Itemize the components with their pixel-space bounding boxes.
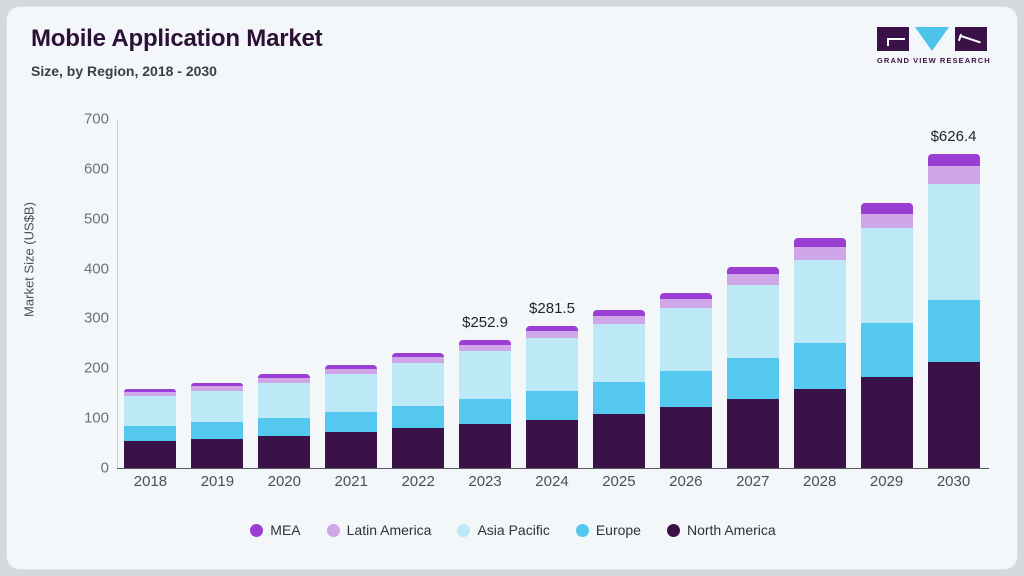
- legend-label: Latin America: [347, 522, 432, 538]
- x-axis-tick: 2022: [385, 473, 452, 490]
- y-axis-tick: 0: [37, 460, 109, 477]
- bar-segment[interactable]: [526, 338, 578, 391]
- bar-total-label: $626.4: [931, 128, 977, 145]
- bar-segment[interactable]: [124, 441, 176, 468]
- bar-column[interactable]: [191, 383, 243, 468]
- y-axis-tick: 600: [37, 160, 109, 177]
- bar-segment[interactable]: [794, 260, 846, 343]
- x-axis-tick: 2023: [452, 473, 519, 490]
- bar-segment[interactable]: [794, 343, 846, 389]
- bar-segment[interactable]: [459, 351, 511, 399]
- bar-segment[interactable]: [861, 323, 913, 376]
- legend-item[interactable]: Latin America: [327, 522, 432, 538]
- x-axis-tick: 2026: [652, 473, 719, 490]
- bar-segment[interactable]: [392, 428, 444, 468]
- y-axis-tick: 100: [37, 410, 109, 427]
- bar-segment[interactable]: [325, 432, 377, 468]
- bar-segment[interactable]: [593, 324, 645, 381]
- bar-segment[interactable]: [660, 308, 712, 371]
- bar-segment[interactable]: [727, 267, 779, 274]
- bar-segment[interactable]: [928, 184, 980, 300]
- bar-segment[interactable]: [727, 285, 779, 359]
- y-axis-tick: 300: [37, 310, 109, 327]
- chart-card: Mobile Application Market Size, by Regio…: [6, 6, 1018, 570]
- bar-segment[interactable]: [593, 316, 645, 324]
- y-axis-tick: 700: [37, 111, 109, 128]
- stacked-bar-chart: Market Size (US$B) 010020030040050060070…: [7, 7, 1018, 570]
- bar-segment[interactable]: [794, 247, 846, 259]
- bar-total-label: $252.9: [462, 314, 508, 331]
- legend-item[interactable]: North America: [667, 522, 776, 538]
- bar-column[interactable]: [392, 353, 444, 468]
- bar-column[interactable]: $252.9: [459, 340, 511, 468]
- screenshot-root: Mobile Application Market Size, by Regio…: [0, 0, 1024, 576]
- bar-segment[interactable]: [593, 414, 645, 468]
- bar-segment[interactable]: [258, 418, 310, 436]
- x-axis-tick: 2019: [184, 473, 251, 490]
- bar-column[interactable]: [325, 365, 377, 468]
- bar-segment[interactable]: [660, 371, 712, 407]
- bar-segment[interactable]: [258, 383, 310, 418]
- bar-column[interactable]: [258, 374, 310, 468]
- x-axis-line: [117, 468, 989, 469]
- bar-segment[interactable]: [660, 299, 712, 308]
- bar-segment[interactable]: [258, 436, 310, 468]
- bar-segment[interactable]: [325, 374, 377, 411]
- bar-column[interactable]: [861, 203, 913, 468]
- bar-segment[interactable]: [392, 406, 444, 428]
- legend-color-swatch: [576, 524, 589, 537]
- bar-column[interactable]: [794, 238, 846, 468]
- bar-segment[interactable]: [861, 228, 913, 323]
- x-axis-tick: 2024: [519, 473, 586, 490]
- x-axis-tick: 2027: [719, 473, 786, 490]
- x-axis-tick: 2021: [318, 473, 385, 490]
- bar-segment[interactable]: [928, 154, 980, 166]
- bar-segment[interactable]: [861, 203, 913, 213]
- bar-column[interactable]: [727, 267, 779, 468]
- bar-segment[interactable]: [526, 331, 578, 338]
- bar-segment[interactable]: [459, 399, 511, 423]
- legend-color-swatch: [250, 524, 263, 537]
- bar-segment[interactable]: [459, 424, 511, 468]
- bar-segment[interactable]: [392, 363, 444, 405]
- legend-item[interactable]: Asia Pacific: [457, 522, 549, 538]
- y-axis-ticks: 0100200300400500600700: [27, 119, 109, 468]
- legend-label: Asia Pacific: [477, 522, 549, 538]
- bar-segment[interactable]: [727, 274, 779, 284]
- bar-segment[interactable]: [191, 391, 243, 422]
- y-axis-tick: 400: [37, 260, 109, 277]
- x-axis-tick: 2028: [786, 473, 853, 490]
- bar-segment[interactable]: [191, 422, 243, 438]
- y-axis-tick: 500: [37, 210, 109, 227]
- legend-label: MEA: [270, 522, 300, 538]
- legend-color-swatch: [457, 524, 470, 537]
- bar-column[interactable]: $281.5: [526, 326, 578, 468]
- bar-segment[interactable]: [928, 300, 980, 362]
- bar-column[interactable]: $626.4: [928, 154, 980, 468]
- x-axis-tick: 2018: [117, 473, 184, 490]
- bar-segment[interactable]: [124, 426, 176, 441]
- bar-segment[interactable]: [928, 166, 980, 183]
- y-axis-tick: 200: [37, 360, 109, 377]
- chart-legend: MEALatin AmericaAsia PacificEuropeNorth …: [7, 522, 1018, 538]
- bar-segment[interactable]: [593, 382, 645, 414]
- bar-segment[interactable]: [124, 396, 176, 425]
- x-axis-tick: 2029: [853, 473, 920, 490]
- bar-segment[interactable]: [727, 358, 779, 398]
- bar-column[interactable]: [593, 310, 645, 468]
- legend-color-swatch: [667, 524, 680, 537]
- bar-segment[interactable]: [861, 214, 913, 228]
- bar-segment[interactable]: [526, 391, 578, 420]
- bar-segment[interactable]: [928, 362, 980, 468]
- bar-column[interactable]: [124, 389, 176, 468]
- bar-segment[interactable]: [794, 389, 846, 468]
- bar-total-label: $281.5: [529, 300, 575, 317]
- legend-color-swatch: [327, 524, 340, 537]
- bar-segment[interactable]: [660, 407, 712, 468]
- legend-item[interactable]: MEA: [250, 522, 300, 538]
- x-axis-tick: 2030: [920, 473, 987, 490]
- legend-item[interactable]: Europe: [576, 522, 641, 538]
- legend-label: Europe: [596, 522, 641, 538]
- x-axis-tick: 2025: [585, 473, 652, 490]
- bar-segment[interactable]: [861, 377, 913, 468]
- bar-segment[interactable]: [794, 238, 846, 247]
- bar-segment[interactable]: [191, 439, 243, 468]
- bar-segment[interactable]: [727, 399, 779, 468]
- x-axis-tick: 2020: [251, 473, 318, 490]
- plot-area: $252.9$281.5$626.4: [117, 119, 987, 468]
- bar-segment[interactable]: [526, 420, 578, 468]
- bar-segment[interactable]: [325, 412, 377, 432]
- bar-column[interactable]: [660, 293, 712, 468]
- legend-label: North America: [687, 522, 776, 538]
